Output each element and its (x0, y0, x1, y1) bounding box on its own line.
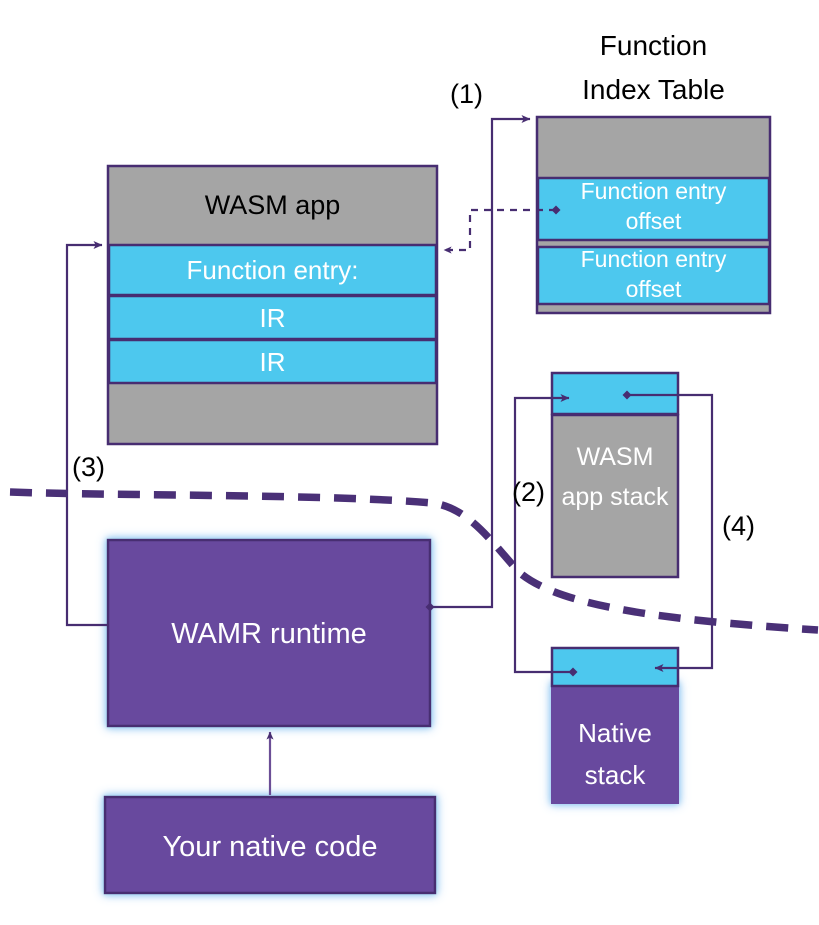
step-label-4: (4) (722, 511, 755, 542)
native-stack-label-line1: Native (552, 718, 678, 748)
diagram-canvas (0, 0, 819, 925)
connector-3-runtime-to-wasm-app (67, 245, 108, 625)
step-label-3: (3) (72, 452, 105, 483)
wasm-app-row-label-2: IR (109, 347, 436, 377)
step-label-2: (2) (512, 477, 545, 508)
wasm-app-title: WASM app (108, 190, 437, 221)
function-index-table-entry-1-line1: Function entry (538, 246, 769, 273)
wasm-app-stack-top-band (552, 373, 678, 414)
wasm-app-stack-label-line2: app stack (552, 483, 678, 512)
step-label-1: (1) (450, 79, 483, 110)
function-index-table-entry-1-line2: offset (538, 276, 769, 303)
native-stack-label-line2: stack (552, 760, 678, 790)
wasm-app-row-label-1: IR (109, 303, 436, 333)
wamr-runtime-label: WAMR runtime (108, 618, 430, 652)
function-index-table-title-line1: Function (537, 30, 770, 62)
your-native-code-label: Your native code (105, 831, 435, 865)
function-index-table-entry-0-line2: offset (538, 208, 769, 235)
wasm-app-stack-block (552, 373, 678, 577)
function-index-table-entry-0-line1: Function entry (538, 178, 769, 205)
wasm-app-stack-label-line1: WASM (552, 443, 678, 472)
wasm-app-row-label-0: Function entry: (109, 255, 436, 285)
function-index-table-title-line2: Index Table (537, 74, 770, 106)
